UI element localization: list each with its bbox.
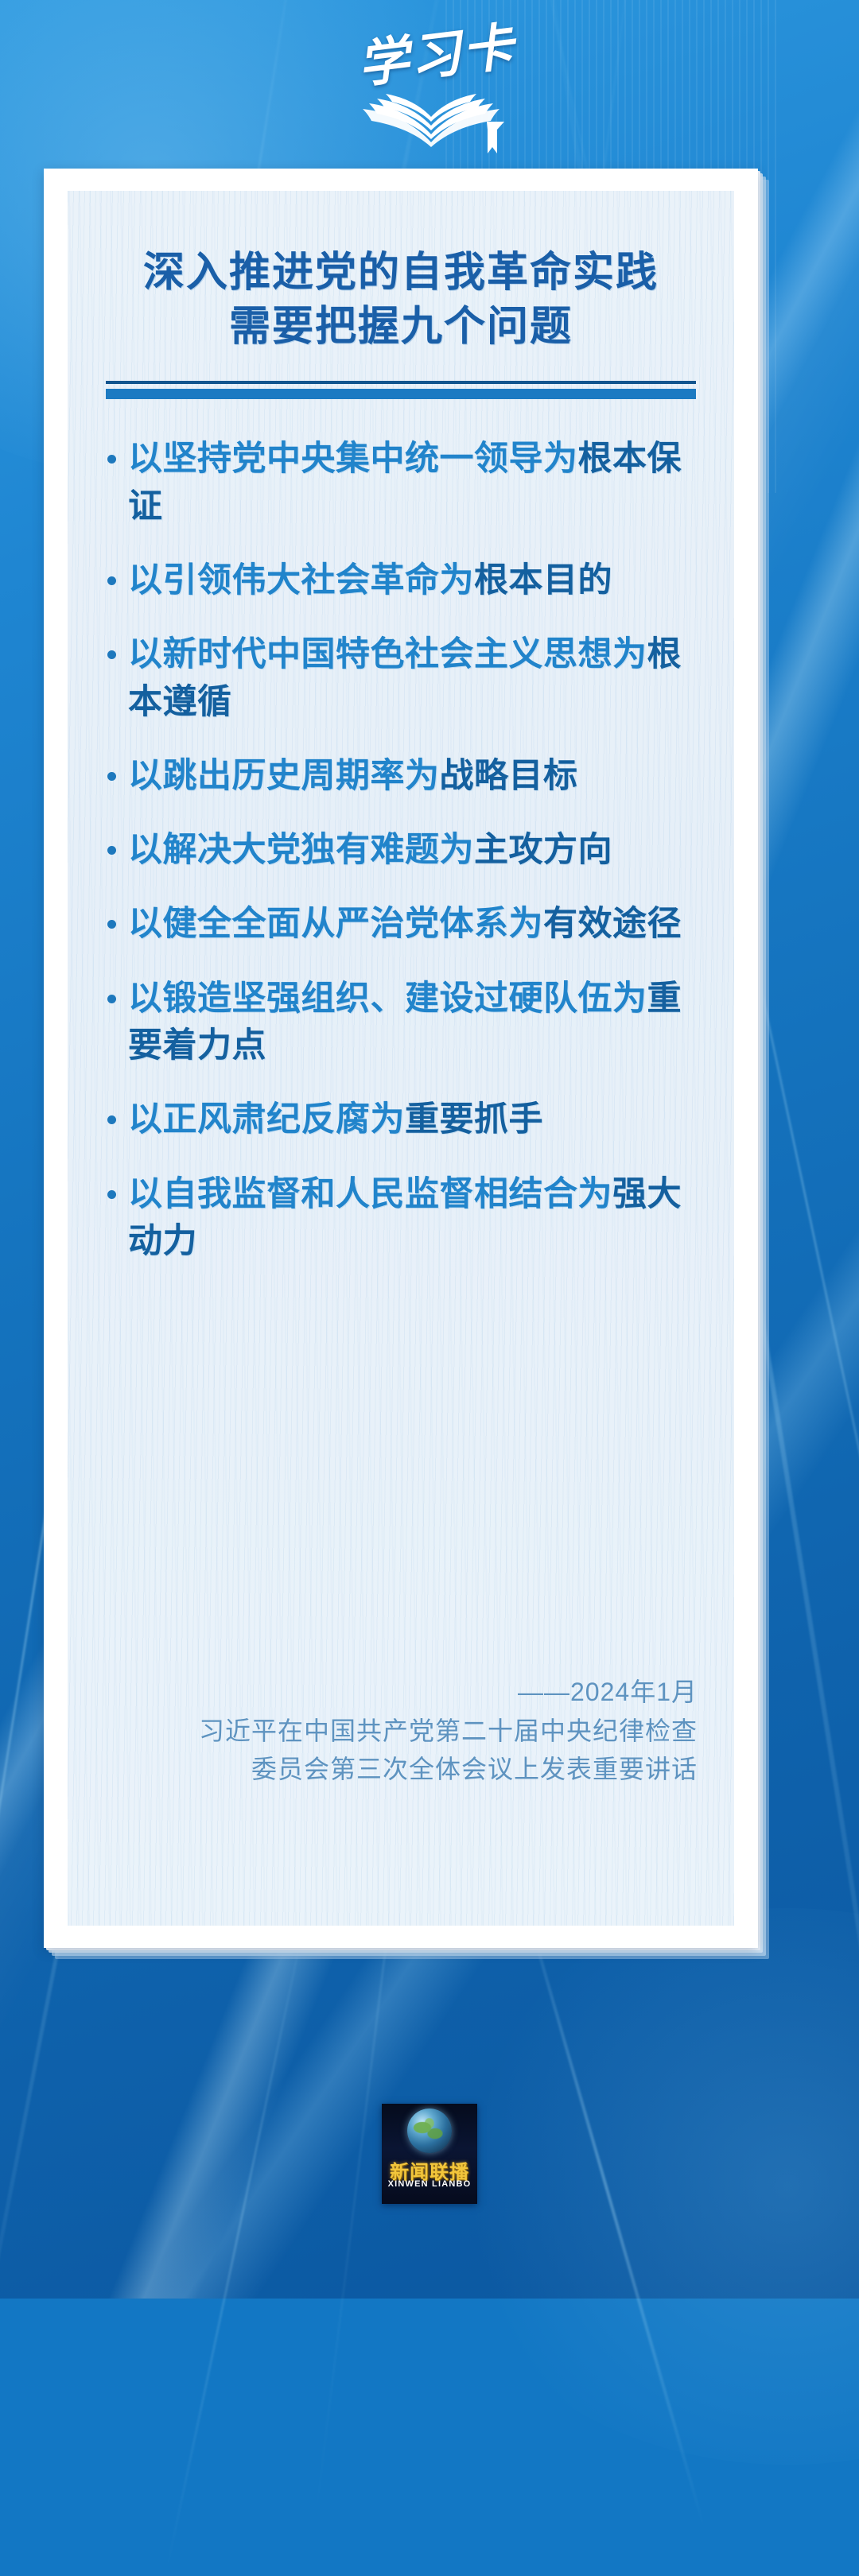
list-item: 以健全全面从严治党体系为有效途径 — [101, 901, 698, 948]
points-list: 以坚持党中央集中统一领导为根本保证 以引领伟大社会革命为根本目的 以新时代中国特… — [68, 436, 734, 1265]
list-item: 以新时代中国特色社会主义思想为根本遵循 — [101, 631, 698, 726]
page-title-line-2: 需要把握九个问题 — [68, 301, 734, 355]
bullet-dot-icon — [107, 920, 116, 929]
list-item-lead: 以锻造坚强组织、建设过硬队伍为 — [128, 980, 647, 1018]
attribution-date: ——2024年1月 — [109, 1673, 698, 1712]
list-item-emphasis: 主攻方向 — [474, 831, 612, 869]
list-item-lead: 以跳出历史周期率为 — [128, 757, 440, 795]
attribution-line-2: 委员会第三次全体会议上发表重要讲话 — [109, 1750, 698, 1789]
list-item: 以坚持党中央集中统一领导为根本保证 — [101, 436, 698, 530]
list-item-emphasis: 有效途径 — [543, 905, 682, 943]
bullet-dot-icon — [107, 846, 116, 855]
globe-icon — [407, 2109, 452, 2153]
list-item: 以自我监督和人民监督相结合为强大动力 — [101, 1171, 698, 1266]
list-item: 以引领伟大社会革命为根本目的 — [101, 557, 698, 604]
list-item-emphasis: 战略目标 — [440, 757, 578, 795]
brand-logo: 学习卡 — [310, 9, 549, 160]
page-title-line-1: 深入推进党的自我革命实践 — [68, 246, 734, 301]
list-item: 以解决大党独有难题为主攻方向 — [101, 827, 698, 874]
page-title: 深入推进党的自我革命实践 需要把握九个问题 — [68, 246, 734, 354]
header: 学习卡 — [0, 6, 859, 162]
list-item: 以跳出历史周期率为战略目标 — [101, 753, 698, 800]
list-item-lead: 以坚持党中央集中统一领导为 — [128, 440, 578, 478]
bullet-dot-icon — [107, 772, 116, 781]
list-item-lead: 以自我监督和人民监督相结合为 — [128, 1175, 612, 1213]
list-item-lead: 以引领伟大社会革命为 — [128, 561, 474, 599]
xinwen-lianbo-badge: 新闻联播 XINWEN LIANBO — [382, 2104, 477, 2204]
bullet-dot-icon — [107, 650, 116, 659]
background-glow-bottom — [429, 1908, 859, 2465]
list-item-emphasis: 根本目的 — [474, 561, 612, 599]
bullet-dot-icon — [107, 1190, 116, 1199]
open-book-icon — [345, 77, 517, 153]
list-item-lead: 以解决大党独有难题为 — [128, 831, 474, 869]
list-item-lead: 以新时代中国特色社会主义思想为 — [128, 635, 647, 673]
card-stack: 深入推进党的自我革命实践 需要把握九个问题 以坚持党中央集中统一领导为根本保证 … — [44, 169, 769, 1959]
divider-thick-line — [106, 389, 696, 399]
bullet-dot-icon — [107, 995, 116, 1003]
badge-en-name: XINWEN LIANBO — [382, 2179, 477, 2189]
list-item: 以锻造坚强组织、建设过硬队伍为重要着力点 — [101, 976, 698, 1070]
study-card: 深入推进党的自我革命实践 需要把握九个问题 以坚持党中央集中统一领导为根本保证 … — [44, 169, 758, 1948]
attribution: ——2024年1月 习近平在中国共产党第二十届中央纪律检查 委员会第三次全体会议… — [109, 1673, 698, 1789]
bullet-dot-icon — [107, 455, 116, 464]
bullet-dot-icon — [107, 1115, 116, 1124]
list-item-lead: 以健全全面从严治党体系为 — [128, 905, 543, 943]
background-streak — [164, 1876, 315, 2576]
list-item-emphasis: 重要抓手 — [405, 1100, 543, 1139]
list-item-lead: 以正风肃纪反腐为 — [128, 1100, 405, 1139]
attribution-line-1: 习近平在中国共产党第二十届中央纪律检查 — [109, 1712, 698, 1751]
bullet-dot-icon — [107, 576, 116, 585]
list-item: 以正风肃纪反腐为重要抓手 — [101, 1096, 698, 1143]
title-divider — [106, 381, 696, 399]
card-content-panel: 深入推进党的自我革命实践 需要把握九个问题 以坚持党中央集中统一领导为根本保证 … — [68, 191, 734, 1926]
